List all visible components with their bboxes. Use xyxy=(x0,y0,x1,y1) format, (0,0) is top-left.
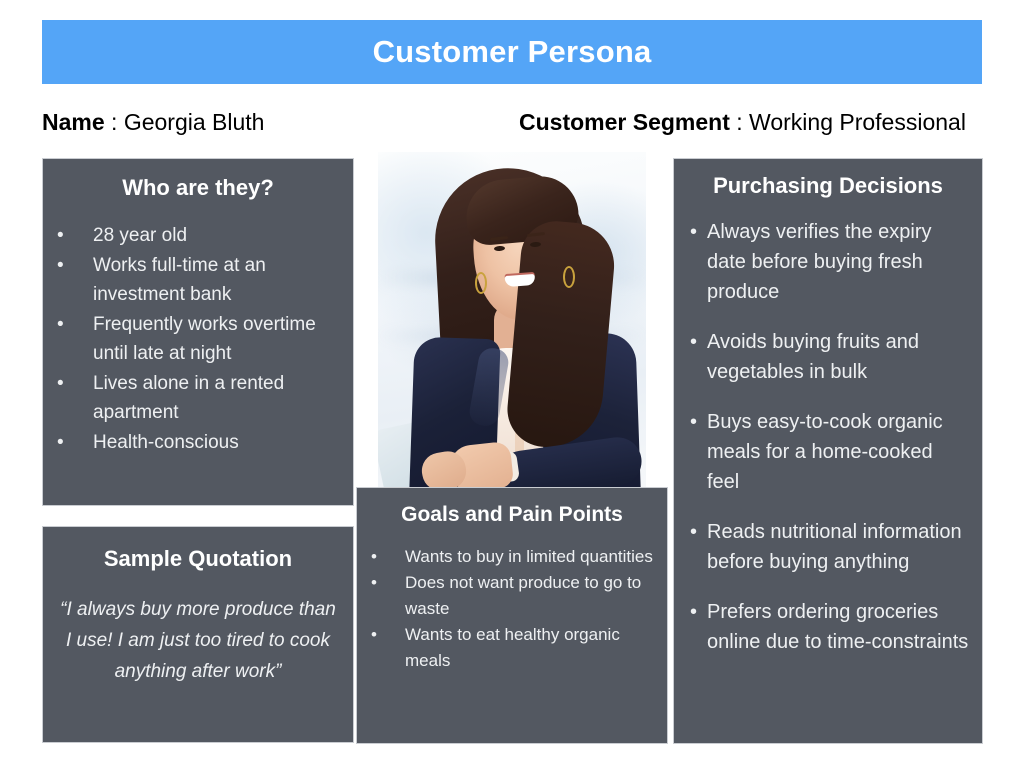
who-are-they-title: Who are they? xyxy=(43,175,353,201)
persona-meta-row: Name : Georgia Bluth Customer Segment : … xyxy=(42,104,982,140)
list-item-text: Wants to eat healthy organic meals xyxy=(405,625,620,670)
list-item-text: Reads nutritional information before buy… xyxy=(707,521,962,573)
list-item: •Health-conscious xyxy=(57,428,339,458)
list-item-text: Health-conscious xyxy=(93,432,239,453)
list-item-text: 28 year old xyxy=(93,225,187,246)
customer-segment-separator: : xyxy=(730,109,749,135)
who-are-they-bullet-list: •28 year old•Works full-time at an inves… xyxy=(43,221,353,457)
purchasing-decisions-card: Purchasing Decisions •Always verifies th… xyxy=(673,158,983,744)
customer-segment-value: Working Professional xyxy=(749,109,966,135)
list-item-text: Prefers ordering groceries online due to… xyxy=(707,601,968,653)
persona-name-label: Name xyxy=(42,109,105,135)
persona-name-field: Name : Georgia Bluth xyxy=(42,104,264,140)
list-item-text: Frequently works overtime until late at … xyxy=(93,314,316,365)
page-title: Customer Persona xyxy=(373,34,652,70)
sample-quotation-text: “I always buy more produce than I use! I… xyxy=(59,594,337,687)
page-title-banner: Customer Persona xyxy=(42,20,982,84)
list-item: •Wants to buy in limited quantities xyxy=(371,544,653,570)
goals-and-pain-points-card: Goals and Pain Points •Wants to buy in l… xyxy=(356,487,668,744)
bullet-icon: • xyxy=(57,369,64,399)
list-item-text: Lives alone in a rented apartment xyxy=(93,373,284,424)
bullet-icon: • xyxy=(371,622,377,648)
persona-photo xyxy=(378,152,646,488)
list-item: •Frequently works overtime until late at… xyxy=(57,310,339,369)
who-are-they-card: Who are they? •28 year old•Works full-ti… xyxy=(42,158,354,506)
list-item: •Always verifies the expiry date before … xyxy=(690,217,970,307)
persona-name-value: Georgia Bluth xyxy=(124,109,265,135)
bullet-icon: • xyxy=(690,517,697,547)
list-item-text: Always verifies the expiry date before b… xyxy=(707,221,932,303)
bullet-icon: • xyxy=(371,570,377,596)
purchasing-decisions-title: Purchasing Decisions xyxy=(674,173,982,199)
bullet-icon: • xyxy=(690,217,697,247)
customer-segment-label: Customer Segment xyxy=(519,109,730,135)
customer-segment-field: Customer Segment : Working Professional xyxy=(519,104,966,140)
bullet-icon: • xyxy=(371,544,377,570)
bullet-icon: • xyxy=(57,251,64,281)
purchasing-decisions-bullet-list: •Always verifies the expiry date before … xyxy=(674,217,982,657)
list-item: •Prefers ordering groceries online due t… xyxy=(690,597,970,657)
list-item-text: Works full-time at an investment bank xyxy=(93,255,266,306)
goals-and-pain-points-title: Goals and Pain Points xyxy=(357,503,667,527)
bullet-icon: • xyxy=(690,327,697,357)
list-item: • Reads nutritional information before b… xyxy=(690,517,970,577)
bullet-icon: • xyxy=(690,597,697,627)
persona-name-separator: : xyxy=(105,109,124,135)
list-item: •28 year old xyxy=(57,221,339,251)
bullet-icon: • xyxy=(57,310,64,340)
bullet-icon: • xyxy=(57,428,64,458)
sample-quotation-card: Sample Quotation “I always buy more prod… xyxy=(42,526,354,743)
photo-earring xyxy=(475,272,487,294)
goals-and-pain-points-bullet-list: •Wants to buy in limited quantities•Does… xyxy=(357,544,667,674)
list-item: •Avoids buying fruits and vegetables in … xyxy=(690,327,970,387)
list-item: •Buys easy-to-cook organic meals for a h… xyxy=(690,407,970,497)
list-item: •Does not want produce to go to waste xyxy=(371,570,653,622)
list-item: •Lives alone in a rented apartment xyxy=(57,369,339,428)
sample-quotation-title: Sample Quotation xyxy=(43,546,353,572)
photo-earring xyxy=(563,266,575,288)
list-item-text: Wants to buy in limited quantities xyxy=(405,547,653,566)
bullet-icon: • xyxy=(57,221,64,251)
list-item: •Wants to eat healthy organic meals xyxy=(371,622,653,674)
bullet-icon: • xyxy=(690,407,697,437)
list-item: •Works full-time at an investment bank xyxy=(57,251,339,310)
list-item-text: Avoids buying fruits and vegetables in b… xyxy=(707,331,919,383)
list-item-text: Buys easy-to-cook organic meals for a ho… xyxy=(707,411,943,493)
list-item-text: Does not want produce to go to waste xyxy=(405,573,641,618)
